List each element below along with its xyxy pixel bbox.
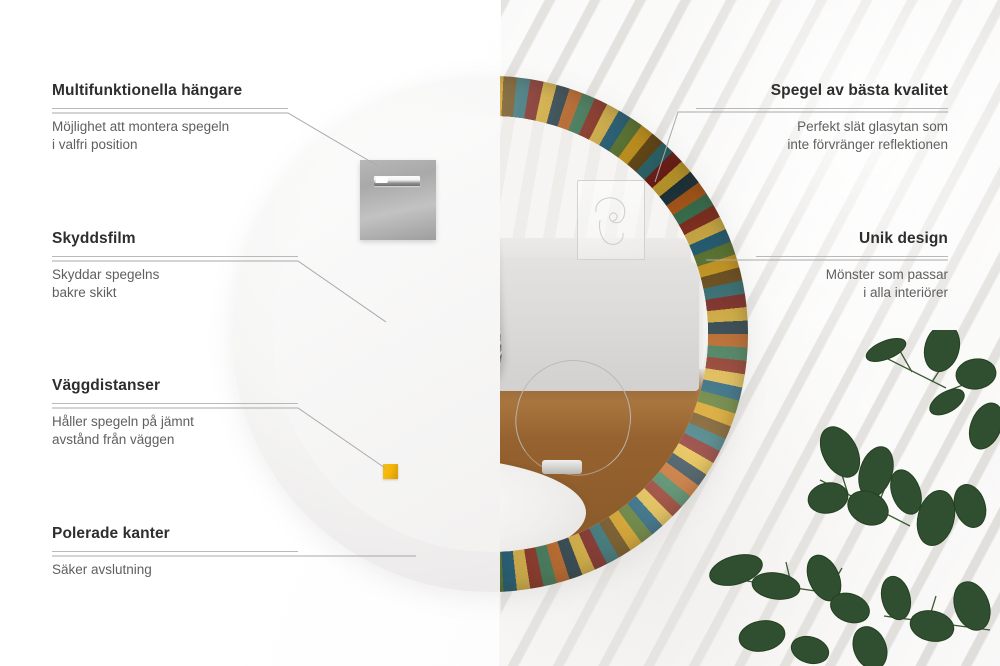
callout-description: Håller spegeln på jämnt avstånd från väg…	[52, 413, 298, 449]
mounting-hanger-plate	[360, 160, 436, 240]
callout-description: Säker avslutning	[52, 561, 298, 579]
callout-title: Skyddsfilm	[52, 230, 298, 248]
wire-clip	[542, 460, 581, 474]
callout-best-quality: Spegel av bästa kvalitet Perfekt slät gl…	[696, 82, 948, 154]
line-art-icon	[588, 190, 634, 250]
wall-spacer-block	[383, 464, 398, 479]
callout-description: Möjlighet att montera spegeln i valfri p…	[52, 118, 288, 154]
callout-unique-design: Unik design Mönster som passar i alla in…	[756, 230, 948, 302]
callout-title: Spegel av bästa kvalitet	[696, 82, 948, 100]
callout-description: Skyddar spegelns bakre skikt	[52, 266, 298, 302]
callout-rule	[52, 256, 298, 257]
framed-line-art	[577, 180, 645, 260]
callout-title: Multifunktionella hängare	[52, 82, 288, 100]
round-mirror	[232, 76, 748, 592]
callout-wall-spacers: Väggdistanser Håller spegeln på jämnt av…	[52, 377, 298, 449]
callout-rule	[52, 403, 298, 404]
callout-title: Polerade kanter	[52, 525, 298, 543]
foliage-decoration	[700, 330, 1000, 666]
callout-title: Unik design	[756, 230, 948, 248]
callout-polished-edges: Polerade kanter Säker avslutning	[52, 525, 298, 579]
callout-title: Väggdistanser	[52, 377, 298, 395]
hanger-keyhole-slot	[374, 176, 420, 186]
callout-hangers: Multifunktionella hängare Möjlighet att …	[52, 82, 288, 154]
infographic-canvas: Multifunktionella hängare Möjlighet att …	[0, 0, 1000, 666]
callout-description: Perfekt slät glasytan som inte förvränge…	[696, 118, 948, 154]
callout-protective-film: Skyddsfilm Skyddar spegelns bakre skikt	[52, 230, 298, 302]
callout-rule	[52, 551, 298, 552]
callout-rule	[756, 256, 948, 257]
callout-rule	[52, 108, 288, 109]
callout-rule	[696, 108, 948, 109]
callout-description: Mönster som passar i alla interiörer	[756, 266, 948, 302]
